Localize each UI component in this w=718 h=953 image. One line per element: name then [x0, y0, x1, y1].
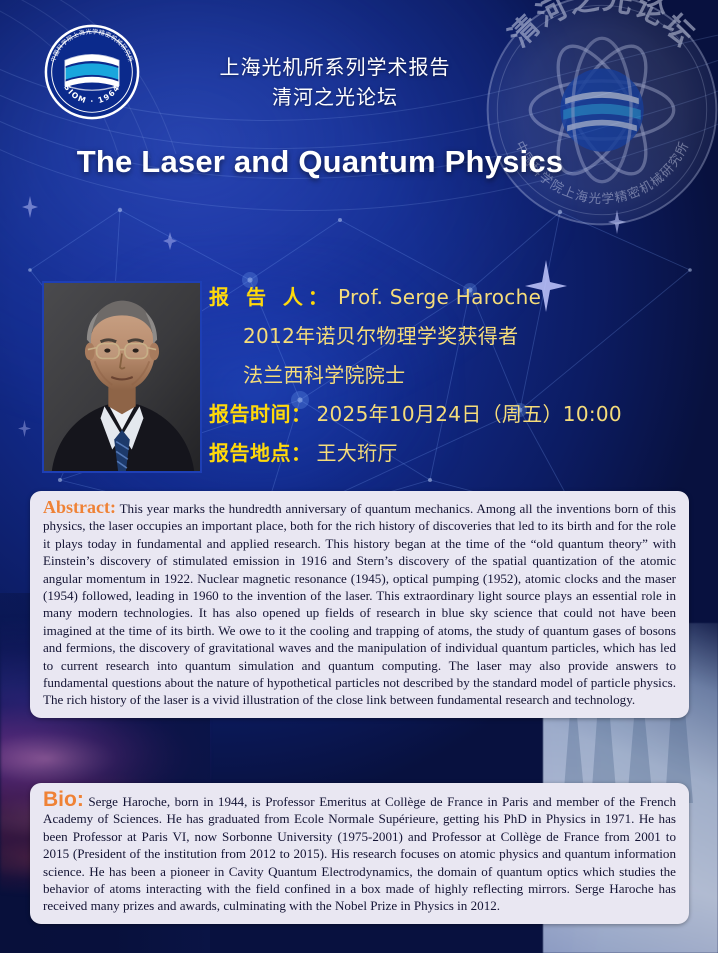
speaker-label-presenter: 报 告 人： [209, 281, 333, 310]
speaker-row-credential-1: 2012年诺贝尔物理学奖获得者 [209, 320, 709, 359]
series-heading-line1: 上海光机所系列学术报告 [170, 52, 500, 82]
abstract-card: Abstract: This year marks the hundredth … [30, 491, 689, 718]
poster-canvas: 中国科学院上海光学精密机械研究所 SIOM · 1964 [0, 0, 718, 953]
speaker-value-venue: 王大珩厅 [317, 437, 398, 466]
speaker-row-credential-2: 法兰西科学院院士 [209, 359, 709, 398]
speaker-label-datetime: 报告时间： [209, 398, 312, 427]
speaker-row-venue: 报告地点： 王大珩厅 [209, 437, 709, 476]
speaker-value-datetime: 2025年10月24日（周五）10:00 [317, 398, 622, 427]
abstract-label: Abstract: [43, 497, 116, 517]
bio-label: Bio: [43, 788, 84, 811]
speaker-value-presenter: Prof. Serge Haroche [338, 285, 541, 309]
page-title: The Laser and Quantum Physics [0, 144, 640, 180]
speaker-label-venue: 报告地点： [209, 437, 312, 466]
abstract-body: This year marks the hundredth anniversar… [43, 501, 676, 707]
bio-card: Bio: Serge Haroche, born in 1944, is Pro… [30, 783, 689, 924]
qinghe-light-forum-seal: 清河之光论坛 中国科学院上海光学精密机械研究所 [476, 0, 718, 236]
speaker-value-credential-2: 法兰西科学院院士 [243, 359, 405, 388]
speaker-value-credential-1: 2012年诺贝尔物理学奖获得者 [243, 320, 518, 349]
speaker-info: 报 告 人： Prof. Serge Haroche 2012年诺贝尔物理学奖获… [209, 281, 709, 476]
speaker-portrait [42, 281, 202, 473]
series-heading-line2: 清河之光论坛 [170, 82, 500, 112]
series-heading: 上海光机所系列学术报告 清河之光论坛 [170, 52, 500, 112]
speaker-row-datetime: 报告时间： 2025年10月24日（周五）10:00 [209, 398, 709, 437]
bio-body: Serge Haroche, born in 1944, is Professo… [43, 794, 676, 913]
speaker-row-presenter: 报 告 人： Prof. Serge Haroche [209, 281, 709, 320]
siom-logo: 中国科学院上海光学精密机械研究所 SIOM · 1964 [44, 24, 140, 120]
